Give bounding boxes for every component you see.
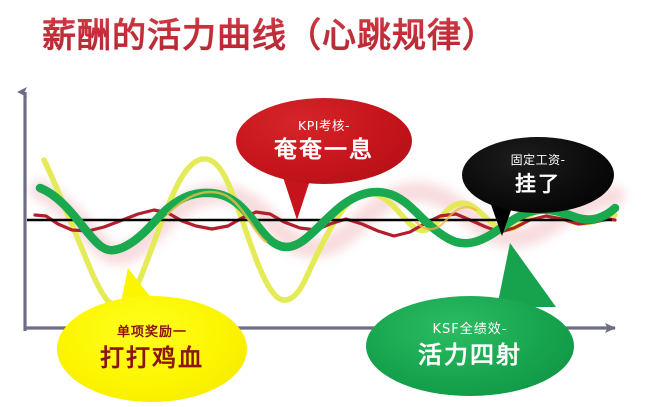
callout-kpi-headline: 奄奄一息 — [274, 136, 374, 165]
callout-ksf-headline: 活力四射 — [418, 340, 522, 370]
callout-fixed-salary-headline: 挂了 — [515, 171, 561, 197]
callout-bonus-label: 单项奖励一 — [117, 325, 187, 341]
callout-bubble-kpi[interactable]: KPI考核- 奄奄一息 — [236, 98, 412, 184]
callout-kpi-label: KPI考核- — [298, 118, 350, 133]
callout-bonus-headline: 打打鸡血 — [100, 343, 204, 373]
callout-ksf-label: KSF全绩效- — [433, 322, 508, 338]
bubble-tail-ksf — [497, 243, 556, 307]
callout-bubble-fixed-salary[interactable]: 固定工资- 挂了 — [462, 137, 614, 213]
callout-fixed-salary-label: 固定工资- — [511, 153, 566, 167]
callout-bubble-bonus[interactable]: 单项奖励一 打打鸡血 — [57, 296, 247, 402]
chart-canvas: 薪酬的活力曲线（心跳规律） — [0, 0, 660, 407]
callout-bubble-ksf[interactable]: KSF全绩效- 活力四射 — [366, 296, 574, 396]
